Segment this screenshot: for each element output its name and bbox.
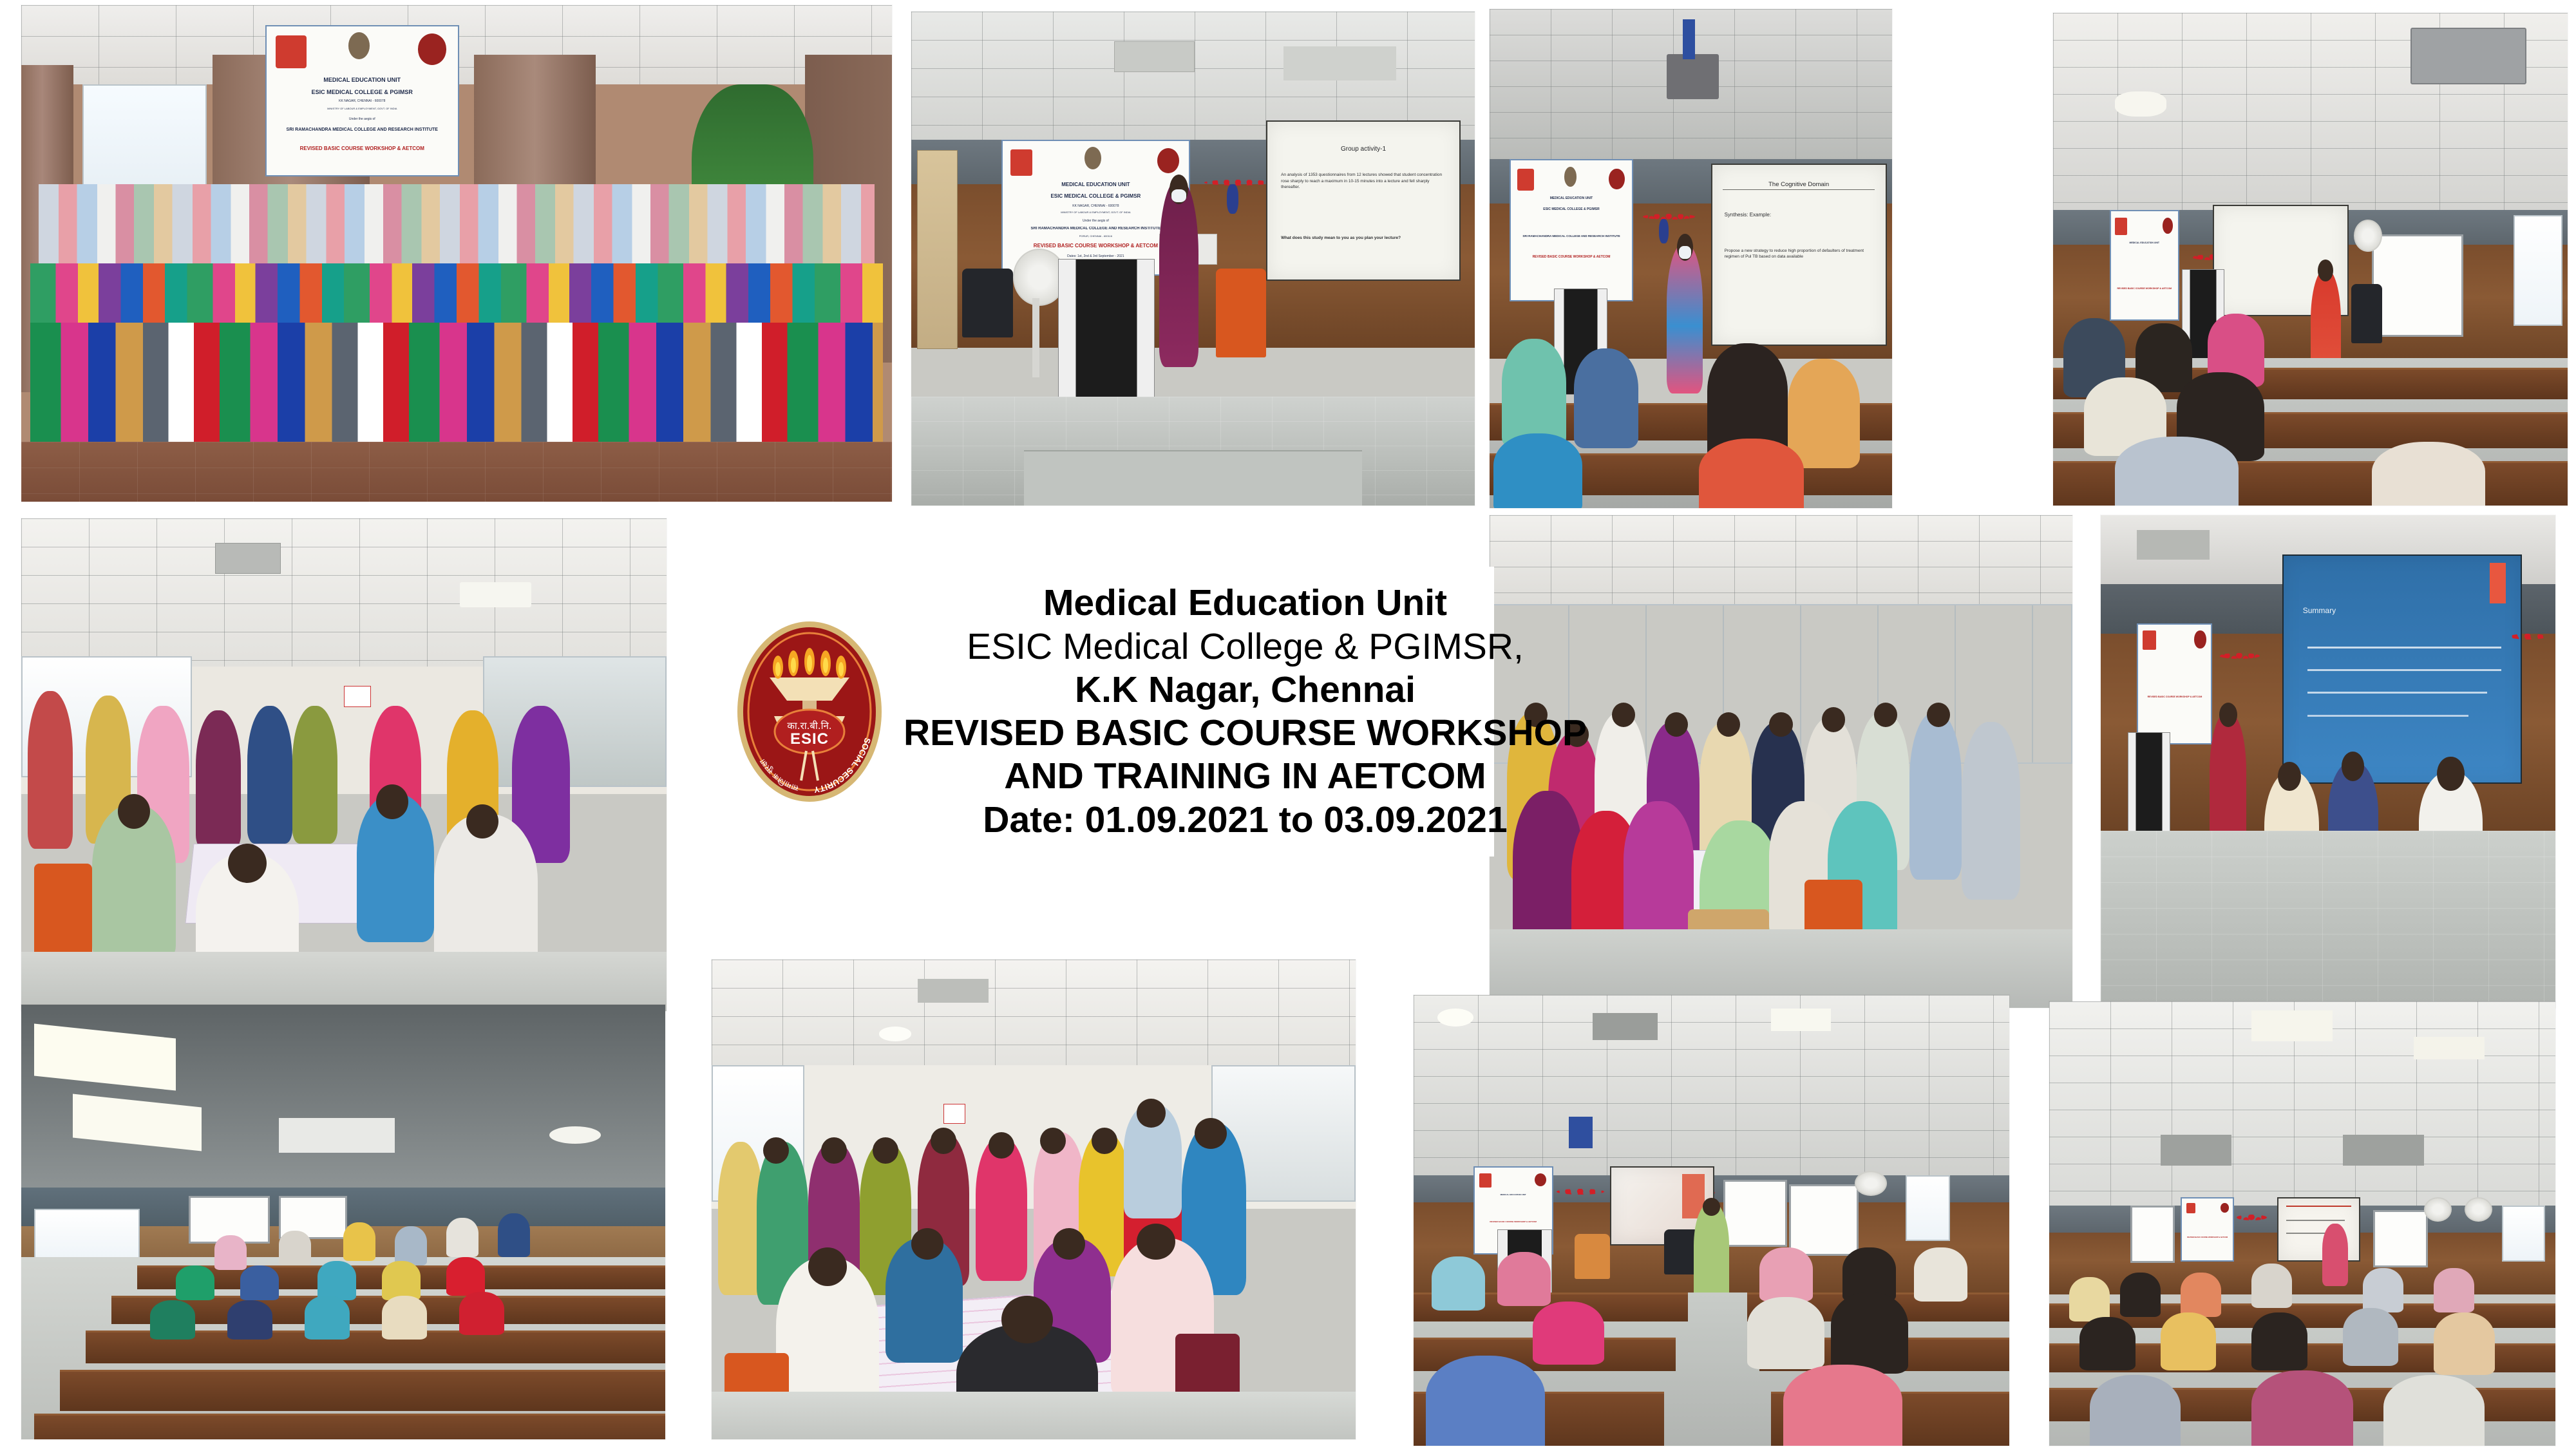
podium-banner-aegis-address: PORUR, CHENNAI - 600116 — [1010, 234, 1182, 238]
title-line-1: Medical Education Unit — [904, 582, 1587, 625]
photo-auditorium-session-right: MEDICAL EDUCATION UNIT REVISED BASIC COU… — [2053, 13, 2568, 506]
slide-bullet-cognitive-domain: Propose a new strategy to reduce high pr… — [1725, 248, 1873, 260]
fac-banner-course: REVISED BASIC COURSE WORKSHOP & AETCOM — [1477, 1220, 1549, 1223]
slide-body-group-activity: An analysis of 1353 questionnaires from … — [1281, 172, 1446, 190]
photo-group-photo: MEDICAL EDUCATION UNIT ESIC MEDICAL COLL… — [21, 5, 892, 502]
banner-title: MEDICAL EDUCATION UNIT — [274, 77, 450, 83]
banner-address: KK NAGAR, CHENNAI - 600078 — [274, 99, 450, 103]
banner-course: REVISED BASIC COURSE WORKSHOP & AETCOM — [274, 146, 450, 151]
projection-screen-cognitive-domain: The Cognitive Domain Synthesis: Example:… — [1711, 164, 1887, 346]
title-text-group: Medical Education Unit ESIC Medical Coll… — [904, 582, 1587, 842]
podium-banner-title: MEDICAL EDUCATION UNIT — [1010, 182, 1182, 187]
esic-logo: का.रा.बी.नि. ESIC SOCIAL SECURITY सामाजि… — [734, 618, 885, 805]
banner-aegis-institution: SRI RAMACHANDRA MEDICAL COLLEGE AND RESE… — [274, 128, 450, 132]
cog-banner-aegis: SRI RAMACHANDRA MEDICAL COLLEGE AND RESE… — [1516, 234, 1627, 238]
sum-banner-course: REVISED BASIC COURSE WORKSHOP & AETCOM — [2141, 696, 2208, 698]
cog-banner-course: REVISED BASIC COURSE WORKSHOP & AETCOM — [1516, 255, 1627, 259]
banner-ministry: MINISTRY OF LABOUR & EMPLOYMENT, GOVT. O… — [274, 107, 450, 110]
title-line-3: K.K Nagar, Chennai — [904, 668, 1587, 712]
slide-question-group-activity: What does this study mean to you as you … — [1281, 235, 1446, 241]
slide-title-group-activity: Group activity-1 — [1279, 146, 1448, 153]
aud-banner-title: MEDICAL EDUCATION UNIT — [2114, 241, 2175, 244]
projection-screen-group-activity: Group activity-1 An analysis of 1353 que… — [1266, 120, 1461, 281]
svg-text:ESIC: ESIC — [790, 730, 829, 748]
title-line-4: REVISED BASIC COURSE WORKSHOP — [904, 712, 1587, 755]
photo-auditorium-participants-left — [21, 1005, 665, 1439]
photo-group-activity-center — [712, 960, 1356, 1439]
podium-banner-institution: ESIC MEDICAL COLLEGE & PGIMSR — [1010, 193, 1182, 199]
banner-institution: ESIC MEDICAL COLLEGE & PGIMSR — [274, 89, 450, 95]
title-line-6: Date: 01.09.2021 to 03.09.2021 — [904, 799, 1587, 842]
photo-small-group-activity-left — [21, 518, 667, 1011]
cog-banner-institution: ESIC MEDICAL COLLEGE & PGIMSR — [1516, 207, 1627, 211]
podium-banner-address: KK NAGAR, CHENNAI - 600078 — [1010, 204, 1182, 208]
cog-banner-title: MEDICAL EDUCATION UNIT — [1516, 196, 1627, 200]
podium — [1058, 259, 1155, 418]
podium-banner-aegis-institution: SRI RAMACHANDRA MEDICAL COLLEGE AND RESE… — [1010, 227, 1182, 231]
podium-banner-ministry: MINISTRY OF LABOUR & EMPLOYMENT, GOVT. O… — [1010, 211, 1182, 214]
rear-banner-course: REVISED BASIC COURSE WORKSHOP & AETCOM — [2184, 1236, 2231, 1238]
projection-screen-summary: Summary — [2282, 554, 2521, 784]
slide-title-cognitive-domain: The Cognitive Domain — [1723, 181, 1875, 190]
title-line-5: AND TRAINING IN AETCOM — [904, 755, 1587, 798]
photo-podium-inaugural: MEDICAL EDUCATION UNIT ESIC MEDICAL COLL… — [911, 12, 1475, 506]
photo-collage: MEDICAL EDUCATION UNIT ESIC MEDICAL COLL… — [0, 0, 2576, 1449]
center-title-block: का.रा.बी.नि. ESIC SOCIAL SECURITY सामाजि… — [734, 567, 1494, 857]
fac-banner-title: MEDICAL EDUCATION UNIT — [1477, 1193, 1549, 1196]
photo-classroom-rear-view: REVISED BASIC COURSE WORKSHOP & AETCOM — [2049, 1001, 2555, 1446]
title-line-2: ESIC Medical College & PGIMSR, — [904, 625, 1587, 668]
podium-banner-course: REVISED BASIC COURSE WORKSHOP & AETCOM — [1010, 243, 1182, 249]
banner-aegis-label: Under the aegis of — [274, 117, 450, 121]
aud-banner-course: REVISED BASIC COURSE WORKSHOP & AETCOM — [2114, 287, 2175, 290]
slide-title-summary: Summary — [2303, 606, 2506, 615]
photo-summary-session: Summary REVISED BASIC COURSE WORKSHOP & … — [2101, 515, 2555, 1008]
event-banner: MEDICAL EDUCATION UNIT ESIC MEDICAL COLL… — [265, 25, 459, 176]
photo-classroom-facilitator: MEDICAL EDUCATION UNIT REVISED BASIC COU… — [1414, 995, 2009, 1446]
photo-cognitive-domain-session: MEDICAL EDUCATION UNIT ESIC MEDICAL COLL… — [1490, 9, 1892, 508]
podium-banner-aegis-label: Under the aegis of — [1010, 219, 1182, 223]
slide-subtitle-cognitive-domain: Synthesis: Example: — [1725, 212, 1873, 218]
